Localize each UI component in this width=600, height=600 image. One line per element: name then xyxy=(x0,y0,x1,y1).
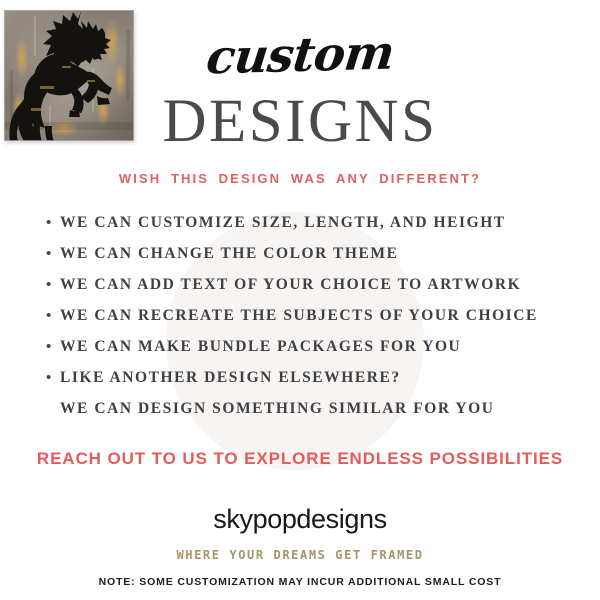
list-item-label: WE CAN DESIGN SOMETHING SIMILAR FOR YOU xyxy=(60,400,495,418)
bullet-icon: • xyxy=(46,215,60,230)
feature-list: • WE CAN CUSTOMIZE SIZE, LENGTH, AND HEI… xyxy=(0,214,600,431)
list-item: • WE CAN CUSTOMIZE SIZE, LENGTH, AND HEI… xyxy=(0,214,600,245)
list-item-label: WE CAN MAKE BUNDLE PACKAGES FOR YOU xyxy=(60,338,461,356)
bullet-icon: • xyxy=(46,339,60,354)
bullet-icon: • xyxy=(46,277,60,292)
footer-block: skypopdesigns WHERE YOUR DREAMS GET FRAM… xyxy=(0,504,600,588)
page-subtitle: WISH THIS DESIGN WAS ANY DIFFERENT? xyxy=(0,171,600,186)
list-item-label: WE CAN CHANGE THE COLOR THEME xyxy=(60,245,399,263)
list-item: • WE CAN RECREATE THE SUBJECTS OF YOUR C… xyxy=(0,307,600,338)
list-item-label: LIKE ANOTHER DESIGN ELSEWHERE? xyxy=(60,369,401,387)
list-item: • WE CAN MAKE BUNDLE PACKAGES FOR YOU xyxy=(0,338,600,369)
call-to-action-text: REACH OUT TO US TO EXPLORE ENDLESS POSSI… xyxy=(0,449,600,469)
footnote-text: NOTE: SOME CUSTOMIZATION MAY INCUR ADDIT… xyxy=(0,576,600,588)
list-item-label: WE CAN CUSTOMIZE SIZE, LENGTH, AND HEIGH… xyxy=(60,214,506,232)
list-item: • LIKE ANOTHER DESIGN ELSEWHERE? xyxy=(0,369,600,400)
product-artwork-image[interactable] xyxy=(4,10,134,141)
bullet-icon: • xyxy=(46,246,60,261)
brand-logo-text[interactable]: skypopdesigns xyxy=(0,504,600,535)
list-item: • WE CAN CHANGE THE COLOR THEME xyxy=(0,245,600,276)
horse-painting-icon xyxy=(4,10,134,141)
list-item-label: WE CAN ADD TEXT OF YOUR CHOICE TO ARTWOR… xyxy=(60,276,521,294)
list-item-continuation: WE CAN DESIGN SOMETHING SIMILAR FOR YOU xyxy=(0,400,600,431)
list-item-label: WE CAN RECREATE THE SUBJECTS OF YOUR CHO… xyxy=(60,307,538,325)
brand-tagline: WHERE YOUR DREAMS GET FRAMED xyxy=(0,548,600,562)
list-item: • WE CAN ADD TEXT OF YOUR CHOICE TO ARTW… xyxy=(0,276,600,307)
bullet-icon: • xyxy=(46,308,60,323)
bullet-icon: • xyxy=(46,370,60,385)
